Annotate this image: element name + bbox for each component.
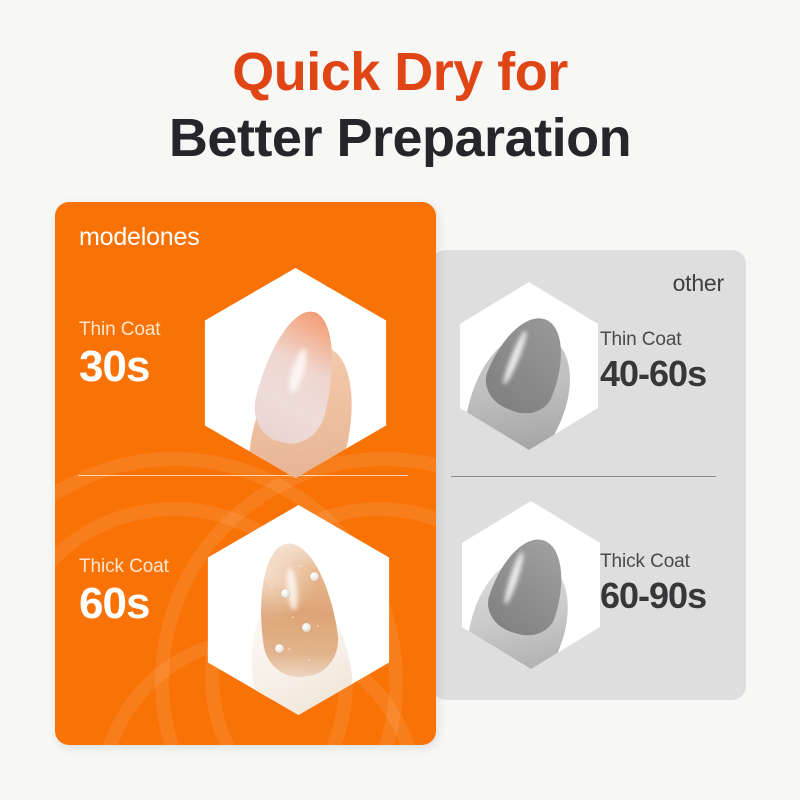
- modelones-thin-coat-nail-image: [197, 268, 394, 478]
- nail-artwork: [197, 268, 394, 478]
- other-panel-divider: [451, 476, 716, 477]
- other-row-thick-coat: Thick Coat 60-90s: [432, 495, 746, 690]
- page-title: Quick Dry for Better Preparation: [0, 40, 800, 170]
- other-thin-coat-nail-image: [454, 282, 604, 450]
- modelones-row-thin-coat: Thin Coat 30s: [55, 258, 436, 468]
- modelones-row-thick-coat: Thick Coat 60s: [55, 497, 436, 707]
- modelones-brand-logo: modelones: [79, 223, 200, 252]
- other-row-thin-coat: Thin Coat 40-60s: [432, 278, 746, 473]
- comparison-panel-other: other Thin Coat 40-60s Thick Coat 60-9: [432, 250, 746, 700]
- other-thin-coat-label: Thin Coat: [600, 328, 730, 352]
- page-title-line-2: Better Preparation: [0, 106, 800, 170]
- other-thick-coat-labels: Thick Coat 60-90s: [600, 550, 730, 618]
- nail-artwork: [456, 501, 606, 669]
- modelones-panel-divider: [78, 475, 408, 476]
- other-thick-coat-nail-image: [456, 501, 606, 669]
- page-title-line-1: Quick Dry for: [0, 40, 800, 104]
- other-thin-coat-labels: Thin Coat 40-60s: [600, 328, 730, 396]
- comparison-panel-modelones: modelones Thin Coat 30s Thick Coat 60s: [55, 202, 436, 745]
- other-thin-coat-time: 40-60s: [600, 352, 730, 396]
- nail-artwork: [454, 282, 604, 450]
- modelones-thick-coat-nail-image: [200, 505, 397, 715]
- other-thick-coat-time: 60-90s: [600, 574, 730, 618]
- other-thick-coat-label: Thick Coat: [600, 550, 730, 574]
- pearl-accent-icon: [275, 644, 284, 653]
- pearl-accent-icon: [281, 589, 290, 598]
- nail-artwork: [200, 505, 397, 715]
